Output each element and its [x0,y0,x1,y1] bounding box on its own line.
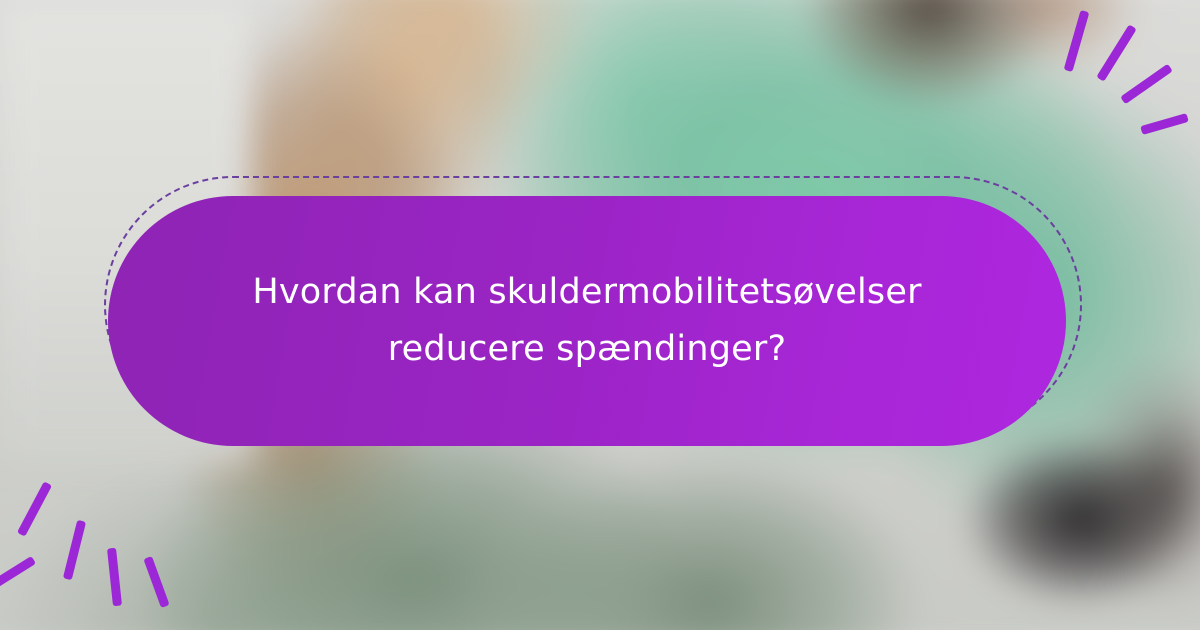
question-text: Hvordan kan skuldermobilitetsøvelser red… [252,264,921,377]
question-line-1: Hvordan kan skuldermobilitetsøvelser [252,272,921,312]
question-pill: Hvordan kan skuldermobilitetsøvelser red… [108,196,1066,446]
question-line-2: reducere spændinger? [388,329,786,369]
social-card: Hvordan kan skuldermobilitetsøvelser red… [0,0,1200,630]
